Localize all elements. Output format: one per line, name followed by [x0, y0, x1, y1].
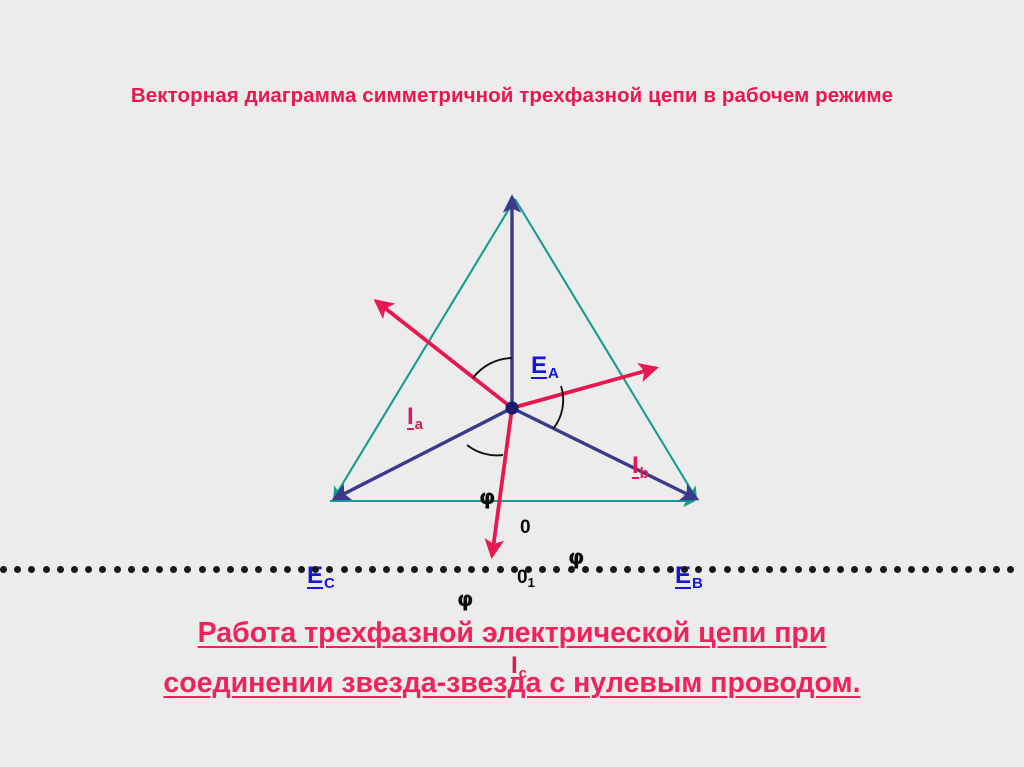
divider-dot: [511, 566, 518, 573]
label-emf-ea-main: E: [531, 355, 547, 379]
divider-dot: [369, 566, 376, 573]
divider-dot: [638, 566, 645, 573]
label-emf-ea: EA: [531, 355, 559, 382]
divider-dot: [979, 566, 986, 573]
divider-dot: [440, 566, 447, 573]
divider-dot: [809, 566, 816, 573]
divider-dot: [709, 566, 716, 573]
divider-dot: [99, 566, 106, 573]
divider-dot: [383, 566, 390, 573]
footer-line-2: соединении звезда-звезда с нулевым прово…: [163, 667, 860, 699]
label-emf-ea-sub: A: [548, 365, 559, 382]
divider-dot: [865, 566, 872, 573]
footer-line-1: Работа трехфазной электрической цепи при: [198, 617, 827, 649]
dotted-divider: [0, 563, 1024, 577]
divider-dot: [426, 566, 433, 573]
divider-dot: [43, 566, 50, 573]
label-current-ia-sub: a: [415, 416, 423, 433]
slide-canvas: Векторная диаграмма симметричной трехфаз…: [0, 0, 1024, 767]
divider-dot: [28, 566, 35, 573]
label-phi-a: φ: [479, 485, 495, 509]
emf-phasors: [334, 197, 697, 499]
vector-phasor-diagram: EA EB EC Ia Ib Ic 0 01 φ φ φ: [0, 150, 1024, 570]
divider-dot: [497, 566, 504, 573]
label-current-ia-main: I: [407, 406, 414, 430]
divider-dot: [14, 566, 21, 573]
divider-dot: [837, 566, 844, 573]
divider-dot: [156, 566, 163, 573]
phi-arc-b: [553, 386, 563, 429]
divider-dot: [184, 566, 191, 573]
divider-dot: [582, 566, 589, 573]
label-current-ia: Ia: [407, 406, 423, 433]
origin-dot: [505, 401, 518, 414]
divider-dot: [57, 566, 64, 573]
divider-dot: [341, 566, 348, 573]
label-current-ib-sub: b: [640, 465, 649, 482]
divider-dot: [213, 566, 220, 573]
divider-dot: [468, 566, 475, 573]
divider-dot: [355, 566, 362, 573]
divider-dot: [965, 566, 972, 573]
divider-dot: [553, 566, 560, 573]
divider-dot: [851, 566, 858, 573]
footer-caption: Работа трехфазной электрической цепи при…: [62, 608, 962, 708]
label-current-ib-main: I: [632, 455, 639, 479]
divider-dot: [724, 566, 731, 573]
divider-dot: [795, 566, 802, 573]
divider-dot: [1007, 566, 1014, 573]
label-origin: 0: [520, 517, 531, 539]
divider-dot: [270, 566, 277, 573]
divider-dot: [539, 566, 546, 573]
divider-dot: [482, 566, 489, 573]
divider-dot: [993, 566, 1000, 573]
phasor-svg: [0, 150, 1024, 570]
divider-dot: [894, 566, 901, 573]
label-current-ib: Ib: [632, 455, 649, 482]
label-emf-ec-sub: C: [324, 575, 335, 592]
divider-dot: [411, 566, 418, 573]
divider-dot: [752, 566, 759, 573]
divider-dot: [326, 566, 333, 573]
divider-dot: [0, 566, 7, 573]
divider-dot: [738, 566, 745, 573]
divider-dot: [199, 566, 206, 573]
divider-dot: [142, 566, 149, 573]
current-vector-ic: [492, 408, 512, 556]
divider-dot: [397, 566, 404, 573]
divider-dot: [922, 566, 929, 573]
divider-dot: [525, 566, 532, 573]
divider-dot: [681, 566, 688, 573]
divider-dot: [653, 566, 660, 573]
divider-dot: [312, 566, 319, 573]
divider-dot: [610, 566, 617, 573]
label-origin-main: 0: [520, 517, 531, 538]
divider-dot: [284, 566, 291, 573]
divider-dot: [85, 566, 92, 573]
divider-dot: [823, 566, 830, 573]
divider-dot: [255, 566, 262, 573]
divider-dot: [908, 566, 915, 573]
divider-dot: [227, 566, 234, 573]
divider-dot: [596, 566, 603, 573]
divider-dot: [936, 566, 943, 573]
divider-dot: [454, 566, 461, 573]
phi-arc-a: [473, 358, 512, 378]
divider-dot: [780, 566, 787, 573]
divider-dot: [128, 566, 135, 573]
divider-dot: [624, 566, 631, 573]
divider-dot: [241, 566, 248, 573]
divider-dot: [951, 566, 958, 573]
phi-arc-c: [467, 445, 503, 455]
label-origin-1-sub: 1: [528, 575, 535, 590]
divider-dot: [298, 566, 305, 573]
label-emf-eb-sub: B: [692, 575, 703, 592]
divider-dot: [667, 566, 674, 573]
divider-dot: [114, 566, 121, 573]
divider-dot: [766, 566, 773, 573]
divider-dot: [880, 566, 887, 573]
divider-dot: [568, 566, 575, 573]
page-title: Векторная диаграмма симметричной трехфаз…: [112, 82, 912, 110]
divider-dot: [71, 566, 78, 573]
divider-dot: [170, 566, 177, 573]
divider-dot: [695, 566, 702, 573]
